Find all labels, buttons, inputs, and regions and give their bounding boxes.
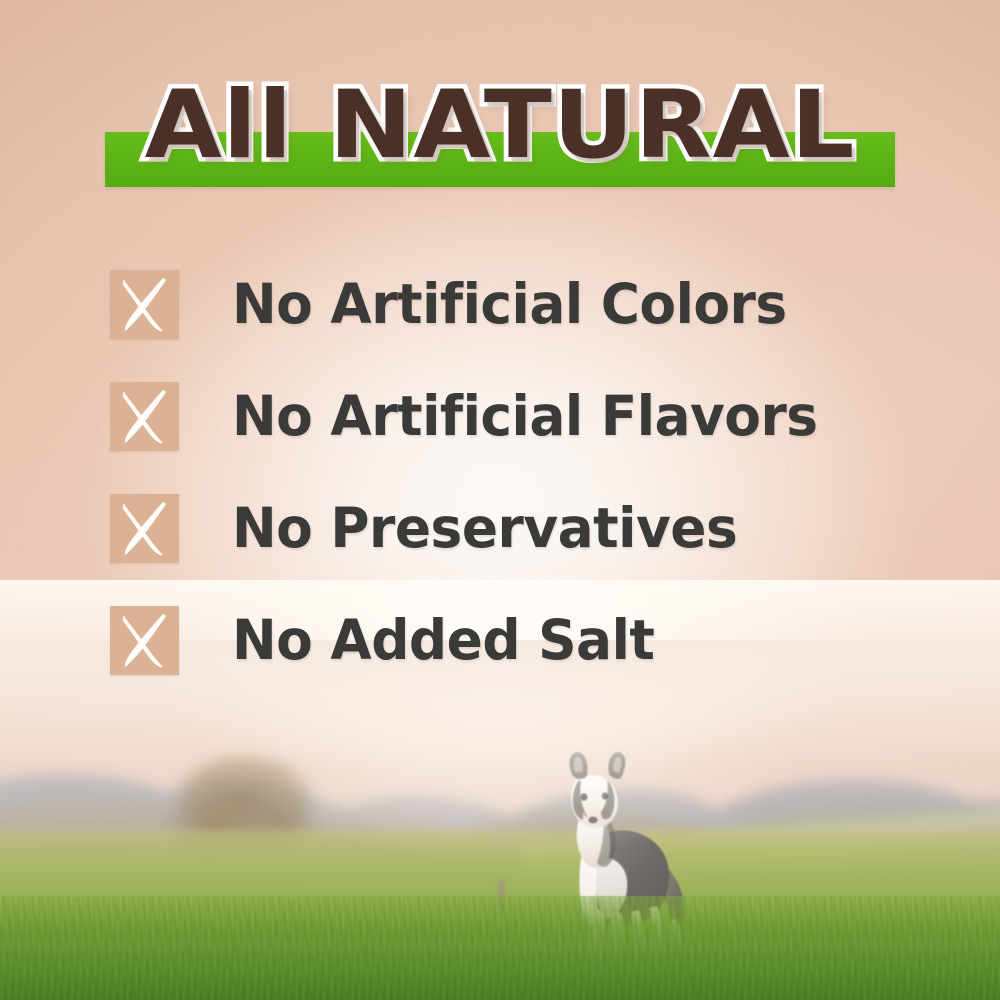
x-mark-icon	[110, 270, 179, 339]
claim-label: No Preservatives	[232, 499, 737, 557]
claim-label: No Artificial Colors	[232, 275, 787, 333]
x-mark-icon	[110, 606, 179, 675]
poster-content: All NATURAL No Artificial Colors	[0, 0, 1000, 1000]
claims-list: No Artificial Colors No Artificial Flavo…	[0, 248, 1000, 696]
x-mark-icon	[110, 494, 179, 563]
x-mark-icon	[110, 382, 179, 451]
headline-block: All NATURAL	[0, 74, 1000, 194]
claim-item-no-artificial-flavors: No Artificial Flavors	[0, 360, 1000, 472]
product-feature-poster: All NATURAL No Artificial Colors	[0, 0, 1000, 1000]
claim-label: No Added Salt	[232, 611, 654, 669]
page-title: All NATURAL	[0, 74, 1000, 178]
claim-item-no-preservatives: No Preservatives	[0, 472, 1000, 584]
claim-item-no-added-salt: No Added Salt	[0, 584, 1000, 696]
claim-item-no-artificial-colors: No Artificial Colors	[0, 248, 1000, 360]
claim-label: No Artificial Flavors	[232, 387, 818, 445]
